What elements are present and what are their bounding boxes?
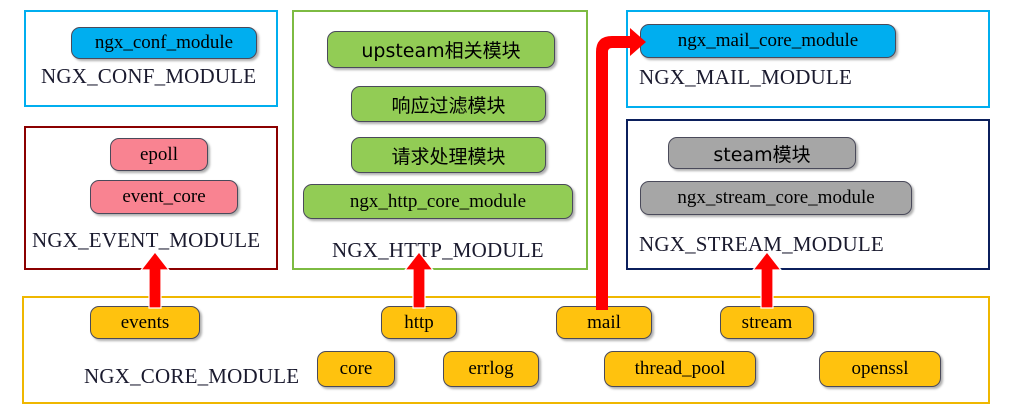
module-chip-ngx-mail-core-module[interactable]: ngx_mail_core_module	[640, 24, 896, 58]
group-label-conf: NGX_CONF_MODULE	[41, 64, 256, 89]
group-label-http: NGX_HTTP_MODULE	[332, 238, 544, 263]
module-chip-ngx-stream-core-module[interactable]: ngx_stream_core_module	[640, 181, 912, 215]
group-label-core: NGX_CORE_MODULE	[84, 364, 299, 389]
module-chip-ngx-conf-module[interactable]: ngx_conf_module	[71, 27, 257, 59]
module-chip-core[interactable]: core	[317, 351, 395, 387]
module-chip-events[interactable]: events	[90, 306, 200, 339]
module-chip-epoll[interactable]: epoll	[110, 138, 208, 171]
group-label-stream: NGX_STREAM_MODULE	[639, 232, 884, 257]
nginx-module-architecture-diagram: ngx_conf_module NGX_CONF_MODULE epoll ev…	[0, 0, 1014, 418]
module-chip-ngx-http-core-module[interactable]: ngx_http_core_module	[303, 184, 573, 219]
module-chip-event-core[interactable]: event_core	[90, 180, 238, 214]
group-label-event: NGX_EVENT_MODULE	[32, 228, 260, 253]
module-chip-errlog[interactable]: errlog	[443, 351, 539, 387]
module-chip-steam-modules[interactable]: steam模块	[668, 137, 856, 169]
module-chip-stream[interactable]: stream	[720, 306, 814, 339]
module-chip-openssl[interactable]: openssl	[819, 351, 941, 387]
module-chip-mail[interactable]: mail	[556, 306, 652, 339]
module-chip-thread-pool[interactable]: thread_pool	[604, 351, 756, 387]
module-chip-request-handle-modules[interactable]: 请求处理模块	[351, 137, 546, 173]
module-chip-upsteam-modules[interactable]: upsteam相关模块	[327, 31, 555, 68]
group-label-mail: NGX_MAIL_MODULE	[639, 65, 852, 90]
module-chip-response-filter-modules[interactable]: 响应过滤模块	[351, 86, 546, 122]
module-chip-http[interactable]: http	[381, 306, 457, 339]
